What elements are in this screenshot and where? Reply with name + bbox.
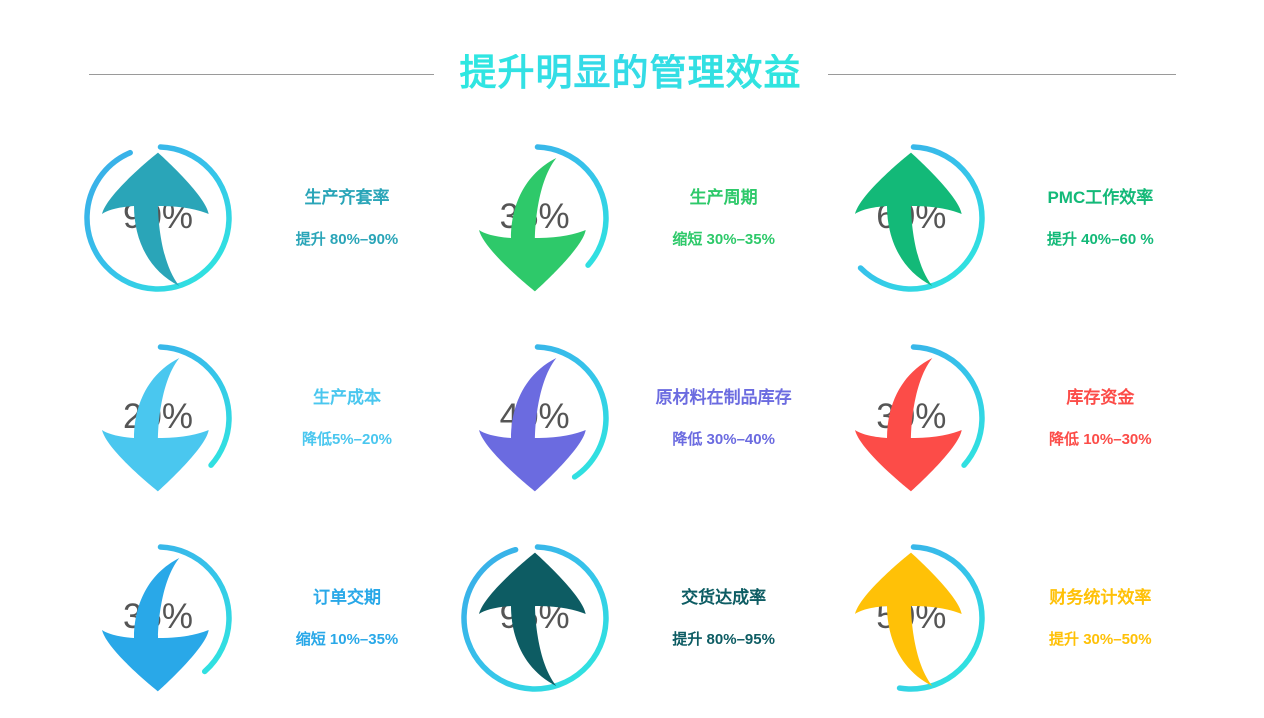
metric-delta: 提升 40%–60 %	[1047, 232, 1154, 247]
metric-delta: 缩短 30%–35%	[672, 232, 775, 247]
metric-name: 原材料在制品库存	[656, 389, 792, 406]
gauge-1: 90%	[78, 138, 238, 298]
gauge-5: 40%	[455, 338, 615, 498]
metric-name: 订单交期	[313, 589, 381, 606]
gauge-3: 60%	[831, 138, 991, 298]
metric-card: 40%原材料在制品库存降低 30%–40%	[447, 318, 824, 518]
metric-labels: 财务统计效率提升 30%–50%	[1005, 589, 1195, 647]
metric-card: 30%库存资金降低 10%–30%	[823, 318, 1200, 518]
metric-labels: 库存资金降低 10%–30%	[1005, 389, 1195, 447]
gauge-7: 35%	[78, 538, 238, 698]
metric-delta: 降低 10%–30%	[1049, 432, 1152, 447]
metric-card: 60%PMC工作效率提升 40%–60 %	[823, 118, 1200, 318]
header-rule-left	[89, 74, 434, 75]
gauge-center: 50%	[831, 538, 991, 698]
metric-card: 35%生产周期缩短 30%–35%	[447, 118, 824, 318]
gauge-6: 30%	[831, 338, 991, 498]
metric-grid: 90%生产齐套率提升 80%–90%35%生产周期缩短 30%–35%60%PM…	[70, 118, 1200, 718]
metric-name: 生产成本	[313, 389, 381, 406]
metric-name: 生产周期	[690, 189, 758, 206]
gauge-center: 60%	[831, 138, 991, 298]
metric-card: 20%生产成本降低5%–20%	[70, 318, 447, 518]
gauge-center: 40%	[455, 338, 615, 498]
metric-name: PMC工作效率	[1047, 189, 1153, 206]
arrow-up-icon	[831, 542, 991, 702]
gauge-9: 50%	[831, 538, 991, 698]
arrow-down-icon	[78, 342, 238, 502]
arrow-up-icon	[831, 142, 991, 302]
arrow-down-icon	[455, 142, 615, 302]
gauge-center: 35%	[455, 138, 615, 298]
metric-labels: 生产成本降低5%–20%	[252, 389, 442, 447]
arrow-down-icon	[78, 542, 238, 702]
gauge-center: 95%	[455, 538, 615, 698]
metric-delta: 提升 80%–90%	[296, 232, 399, 247]
metric-card: 90%生产齐套率提升 80%–90%	[70, 118, 447, 318]
gauge-center: 35%	[78, 538, 238, 698]
arrow-up-icon	[455, 542, 615, 702]
page-title: 提升明显的管理效益	[460, 54, 802, 95]
arrow-down-icon	[831, 342, 991, 502]
arrow-down-icon	[455, 342, 615, 502]
page-header: 提升明显的管理效益	[0, 44, 1264, 104]
metric-delta: 降低 30%–40%	[672, 432, 775, 447]
metric-delta: 提升 80%–95%	[672, 632, 775, 647]
gauge-2: 35%	[455, 138, 615, 298]
metric-labels: 原材料在制品库存降低 30%–40%	[629, 389, 819, 447]
metric-labels: 生产周期缩短 30%–35%	[629, 189, 819, 247]
metric-name: 财务统计效率	[1049, 589, 1151, 606]
metric-labels: PMC工作效率提升 40%–60 %	[1005, 189, 1195, 247]
arrow-up-icon	[78, 142, 238, 302]
metric-delta: 提升 30%–50%	[1049, 632, 1152, 647]
metric-card: 95%交货达成率提升 80%–95%	[447, 518, 824, 718]
metric-name: 生产齐套率	[305, 189, 390, 206]
metric-delta: 缩短 10%–35%	[296, 632, 399, 647]
metric-labels: 交货达成率提升 80%–95%	[629, 589, 819, 647]
metric-labels: 订单交期缩短 10%–35%	[252, 589, 442, 647]
gauge-center: 20%	[78, 338, 238, 498]
metric-name: 交货达成率	[681, 589, 766, 606]
gauge-8: 95%	[455, 538, 615, 698]
metric-card: 35%订单交期缩短 10%–35%	[70, 518, 447, 718]
gauge-center: 90%	[78, 138, 238, 298]
gauge-4: 20%	[78, 338, 238, 498]
header-rule-right	[828, 74, 1176, 75]
gauge-center: 30%	[831, 338, 991, 498]
metric-card: 50%财务统计效率提升 30%–50%	[823, 518, 1200, 718]
metric-labels: 生产齐套率提升 80%–90%	[252, 189, 442, 247]
metric-name: 库存资金	[1066, 389, 1134, 406]
metric-delta: 降低5%–20%	[302, 432, 392, 447]
